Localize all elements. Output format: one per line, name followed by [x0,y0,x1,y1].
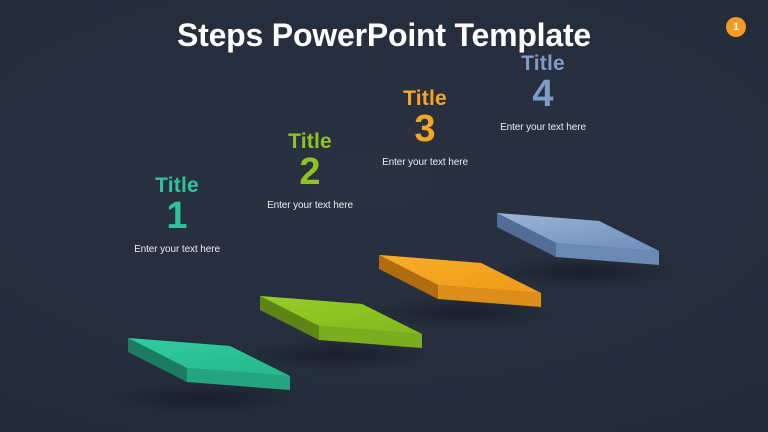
step-caption: Enter your text here [325,157,525,169]
step-number: 4 [443,75,643,114]
step-caption: Enter your text here [210,200,410,212]
step-title-word: Title [443,53,643,74]
step-slab-4[interactable] [497,213,659,265]
step-caption: Enter your text here [77,244,277,256]
step-label-4[interactable]: Title 4 Enter your text here [443,53,643,134]
step-caption: Enter your text here [443,122,643,134]
slide-canvas: Steps PowerPoint Template 1 [0,0,768,432]
